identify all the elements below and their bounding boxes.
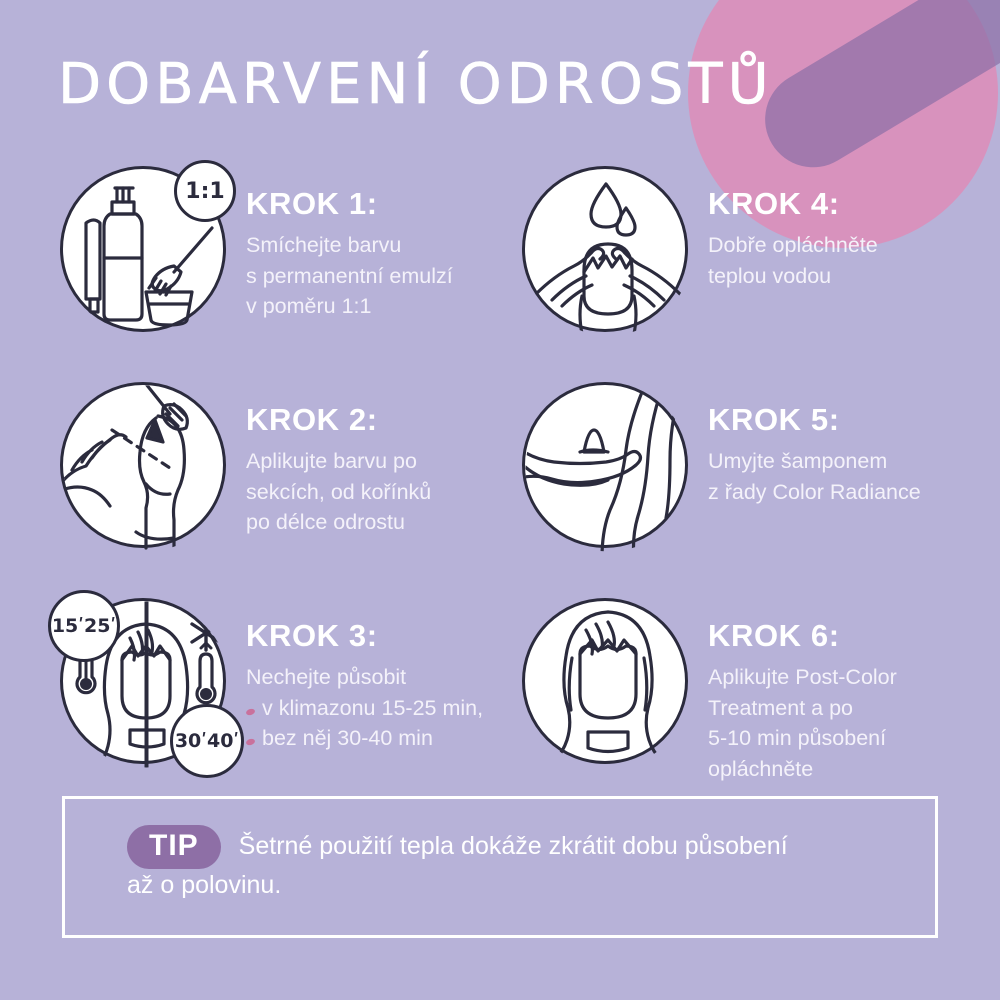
step-3-illustration: 15ʹ25ʹ 30ʹ40ʹ [52, 592, 234, 774]
finished-hair-portrait-icon [522, 598, 695, 771]
step-1-line-3: v poměru 1:1 [246, 291, 453, 322]
step-4-illustration [514, 160, 696, 342]
step-3-line-1: Nechejte působit [246, 662, 483, 693]
step-6-line-1: Aplikujte Post-Color [708, 662, 897, 693]
step-3-bullet-2-label: bez něj 30-40 min [262, 723, 433, 754]
step-card-4: KROK 4: Dobře opláchněte teplou vodou [514, 160, 952, 368]
step-6-illustration [514, 592, 696, 774]
tip-line-1: Šetrné použití tepla dokáže zkrátit dobu… [239, 830, 788, 864]
bullet-dot-icon [245, 707, 255, 715]
step-1-illustration: 1:1 [52, 160, 234, 342]
ratio-badge: 1:1 [174, 160, 236, 222]
step-1-title: KROK 1: [246, 186, 453, 222]
time-badge-without: 30ʹ40ʹ [170, 704, 244, 778]
step-4-line-2: teplou vodou [708, 261, 878, 292]
step-6-line-4: opláchněte [708, 754, 897, 785]
step-2-text: KROK 2: Aplikujte barvu po sekcích, od k… [234, 376, 431, 538]
step-6-line-3: 5-10 min působení [708, 723, 897, 754]
step-6-text: KROK 6: Aplikujte Post-Color Treatment a… [696, 592, 897, 784]
step-2-body: Aplikujte barvu po sekcích, od kořínků p… [246, 446, 431, 538]
step-card-5: KROK 5: Umyjte šamponem z řady Color Rad… [514, 376, 952, 584]
time-badge-climazone: 15ʹ25ʹ [48, 590, 120, 662]
step-3-bullet-1-label: v klimazonu 15-25 min, [262, 693, 483, 724]
step-6-title: KROK 6: [708, 618, 897, 654]
rinsing-hair-water-drop-icon [522, 166, 695, 339]
page-title: DOBARVENÍ ODROSTŮ [58, 52, 774, 117]
tip-box: TIP Šetrné použití tepla dokáže zkrátit … [62, 796, 938, 938]
step-6-line-2: Treatment a po [708, 693, 897, 724]
shampoo-in-hand-icon [522, 382, 695, 555]
tip-badge: TIP [127, 825, 221, 869]
step-2-line-3: po délce odrostu [246, 507, 431, 538]
step-1-body: Smíchejte barvu s permanentní emulzí v p… [246, 230, 453, 322]
step-1-line-2: s permanentní emulzí [246, 261, 453, 292]
step-card-1: 1:1 KROK 1: Smíchejte barvu s permanentn… [52, 160, 514, 368]
step-5-body: Umyjte šamponem z řady Color Radiance [708, 446, 921, 507]
step-5-text: KROK 5: Umyjte šamponem z řady Color Rad… [696, 376, 921, 507]
step-4-line-1: Dobře opláchněte [708, 230, 878, 261]
step-5-line-1: Umyjte šamponem [708, 446, 921, 477]
tip-line-2: až o polovinu. [127, 871, 935, 900]
step-card-6: KROK 6: Aplikujte Post-Color Treatment a… [514, 592, 952, 800]
step-2-line-1: Aplikujte barvu po [246, 446, 431, 477]
step-4-body: Dobře opláchněte teplou vodou [708, 230, 878, 291]
step-1-line-1: Smíchejte barvu [246, 230, 453, 261]
step-4-title: KROK 4: [708, 186, 878, 222]
tip-row: TIP Šetrné použití tepla dokáže zkrátit … [127, 825, 935, 869]
applying-color-brush-sections-icon [60, 382, 233, 555]
step-6-body: Aplikujte Post-Color Treatment a po 5-10… [708, 662, 897, 784]
step-5-line-2: z řady Color Radiance [708, 477, 921, 508]
step-3-body: Nechejte působit v klimazonu 15-25 min, … [246, 662, 483, 754]
step-2-illustration [52, 376, 234, 558]
step-2-line-2: sekcích, od kořínků [246, 477, 431, 508]
steps-grid: 1:1 KROK 1: Smíchejte barvu s permanentn… [52, 160, 952, 800]
step-2-title: KROK 2: [246, 402, 431, 438]
step-3-bullet-1: v klimazonu 15-25 min, [246, 693, 483, 724]
step-3-text: KROK 3: Nechejte působit v klimazonu 15-… [234, 592, 483, 754]
tip-inner: TIP Šetrné použití tepla dokáže zkrátit … [65, 799, 935, 900]
step-card-3: 15ʹ25ʹ 30ʹ40ʹ KROK 3: Nechejte působit v… [52, 592, 514, 800]
step-5-illustration [514, 376, 696, 558]
step-3-bullet-2: bez něj 30-40 min [246, 723, 483, 754]
step-3-title: KROK 3: [246, 618, 483, 654]
step-card-2: KROK 2: Aplikujte barvu po sekcích, od k… [52, 376, 514, 584]
step-5-title: KROK 5: [708, 402, 921, 438]
step-4-text: KROK 4: Dobře opláchněte teplou vodou [696, 160, 878, 291]
decorative-purple-bar [747, 0, 1000, 185]
step-1-text: KROK 1: Smíchejte barvu s permanentní em… [234, 160, 453, 322]
bullet-dot-icon [245, 738, 255, 746]
